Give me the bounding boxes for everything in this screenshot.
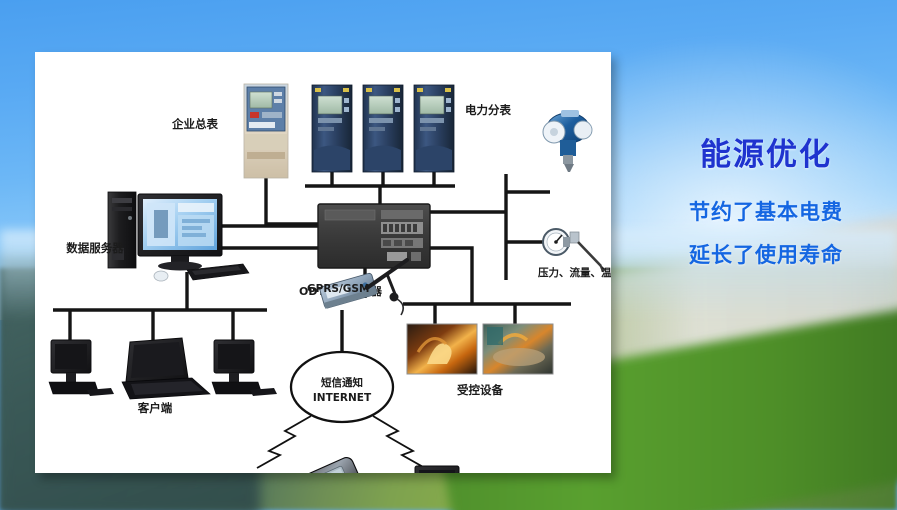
slide-canvas: 企业总表 <box>0 0 897 510</box>
diagram-card: 企业总表 <box>35 52 611 473</box>
label-enterprise-meter: 企业总表 <box>171 117 218 131</box>
electricity-meter-1 <box>312 85 352 172</box>
node-remote-pc[interactable] <box>401 466 461 473</box>
node-power-submeters[interactable] <box>312 85 454 172</box>
label-clients: 客户端 <box>137 401 173 415</box>
wire-controller-to-equipment <box>430 248 472 304</box>
slide-headline: 能源优化 <box>640 138 892 172</box>
slide-text-block: 能源优化 节约了基本电费 延长了使用寿命 <box>640 138 892 288</box>
lightning-to-pc <box>373 416 425 468</box>
node-data-server[interactable] <box>108 192 249 281</box>
client-desktop-right <box>212 340 277 396</box>
slide-bullet-1: 节约了基本电费 <box>640 202 892 223</box>
node-clients[interactable] <box>49 338 277 399</box>
electricity-meter-2 <box>363 85 403 172</box>
system-topology-diagram: 企业总表 <box>35 52 611 473</box>
lightning-to-phone <box>257 416 311 468</box>
label-power-submeters: 电力分表 <box>465 103 511 117</box>
slide-bullet-2: 延长了使用寿命 <box>640 245 892 266</box>
node-enterprise-meter[interactable] <box>244 84 288 178</box>
electricity-meter-3 <box>414 85 454 172</box>
label-cloud-line2: INTERNET <box>313 392 372 404</box>
label-sensors: 压力、流量、温度等 <box>538 266 611 279</box>
client-laptop <box>122 338 210 399</box>
node-controlled-equipment[interactable] <box>407 324 553 374</box>
node-pressure-gauge[interactable] <box>543 229 606 272</box>
node-controller[interactable] <box>318 204 430 268</box>
label-controlled-equipment: 受控设备 <box>457 383 503 397</box>
client-desktop-left <box>49 340 114 396</box>
label-cloud-line1: 短信通知 <box>321 376 363 389</box>
node-pressure-transmitter[interactable] <box>543 110 592 172</box>
label-gprs-modem: GPRS/GSM <box>307 283 369 295</box>
label-data-server: 数据服务器 <box>66 241 124 255</box>
